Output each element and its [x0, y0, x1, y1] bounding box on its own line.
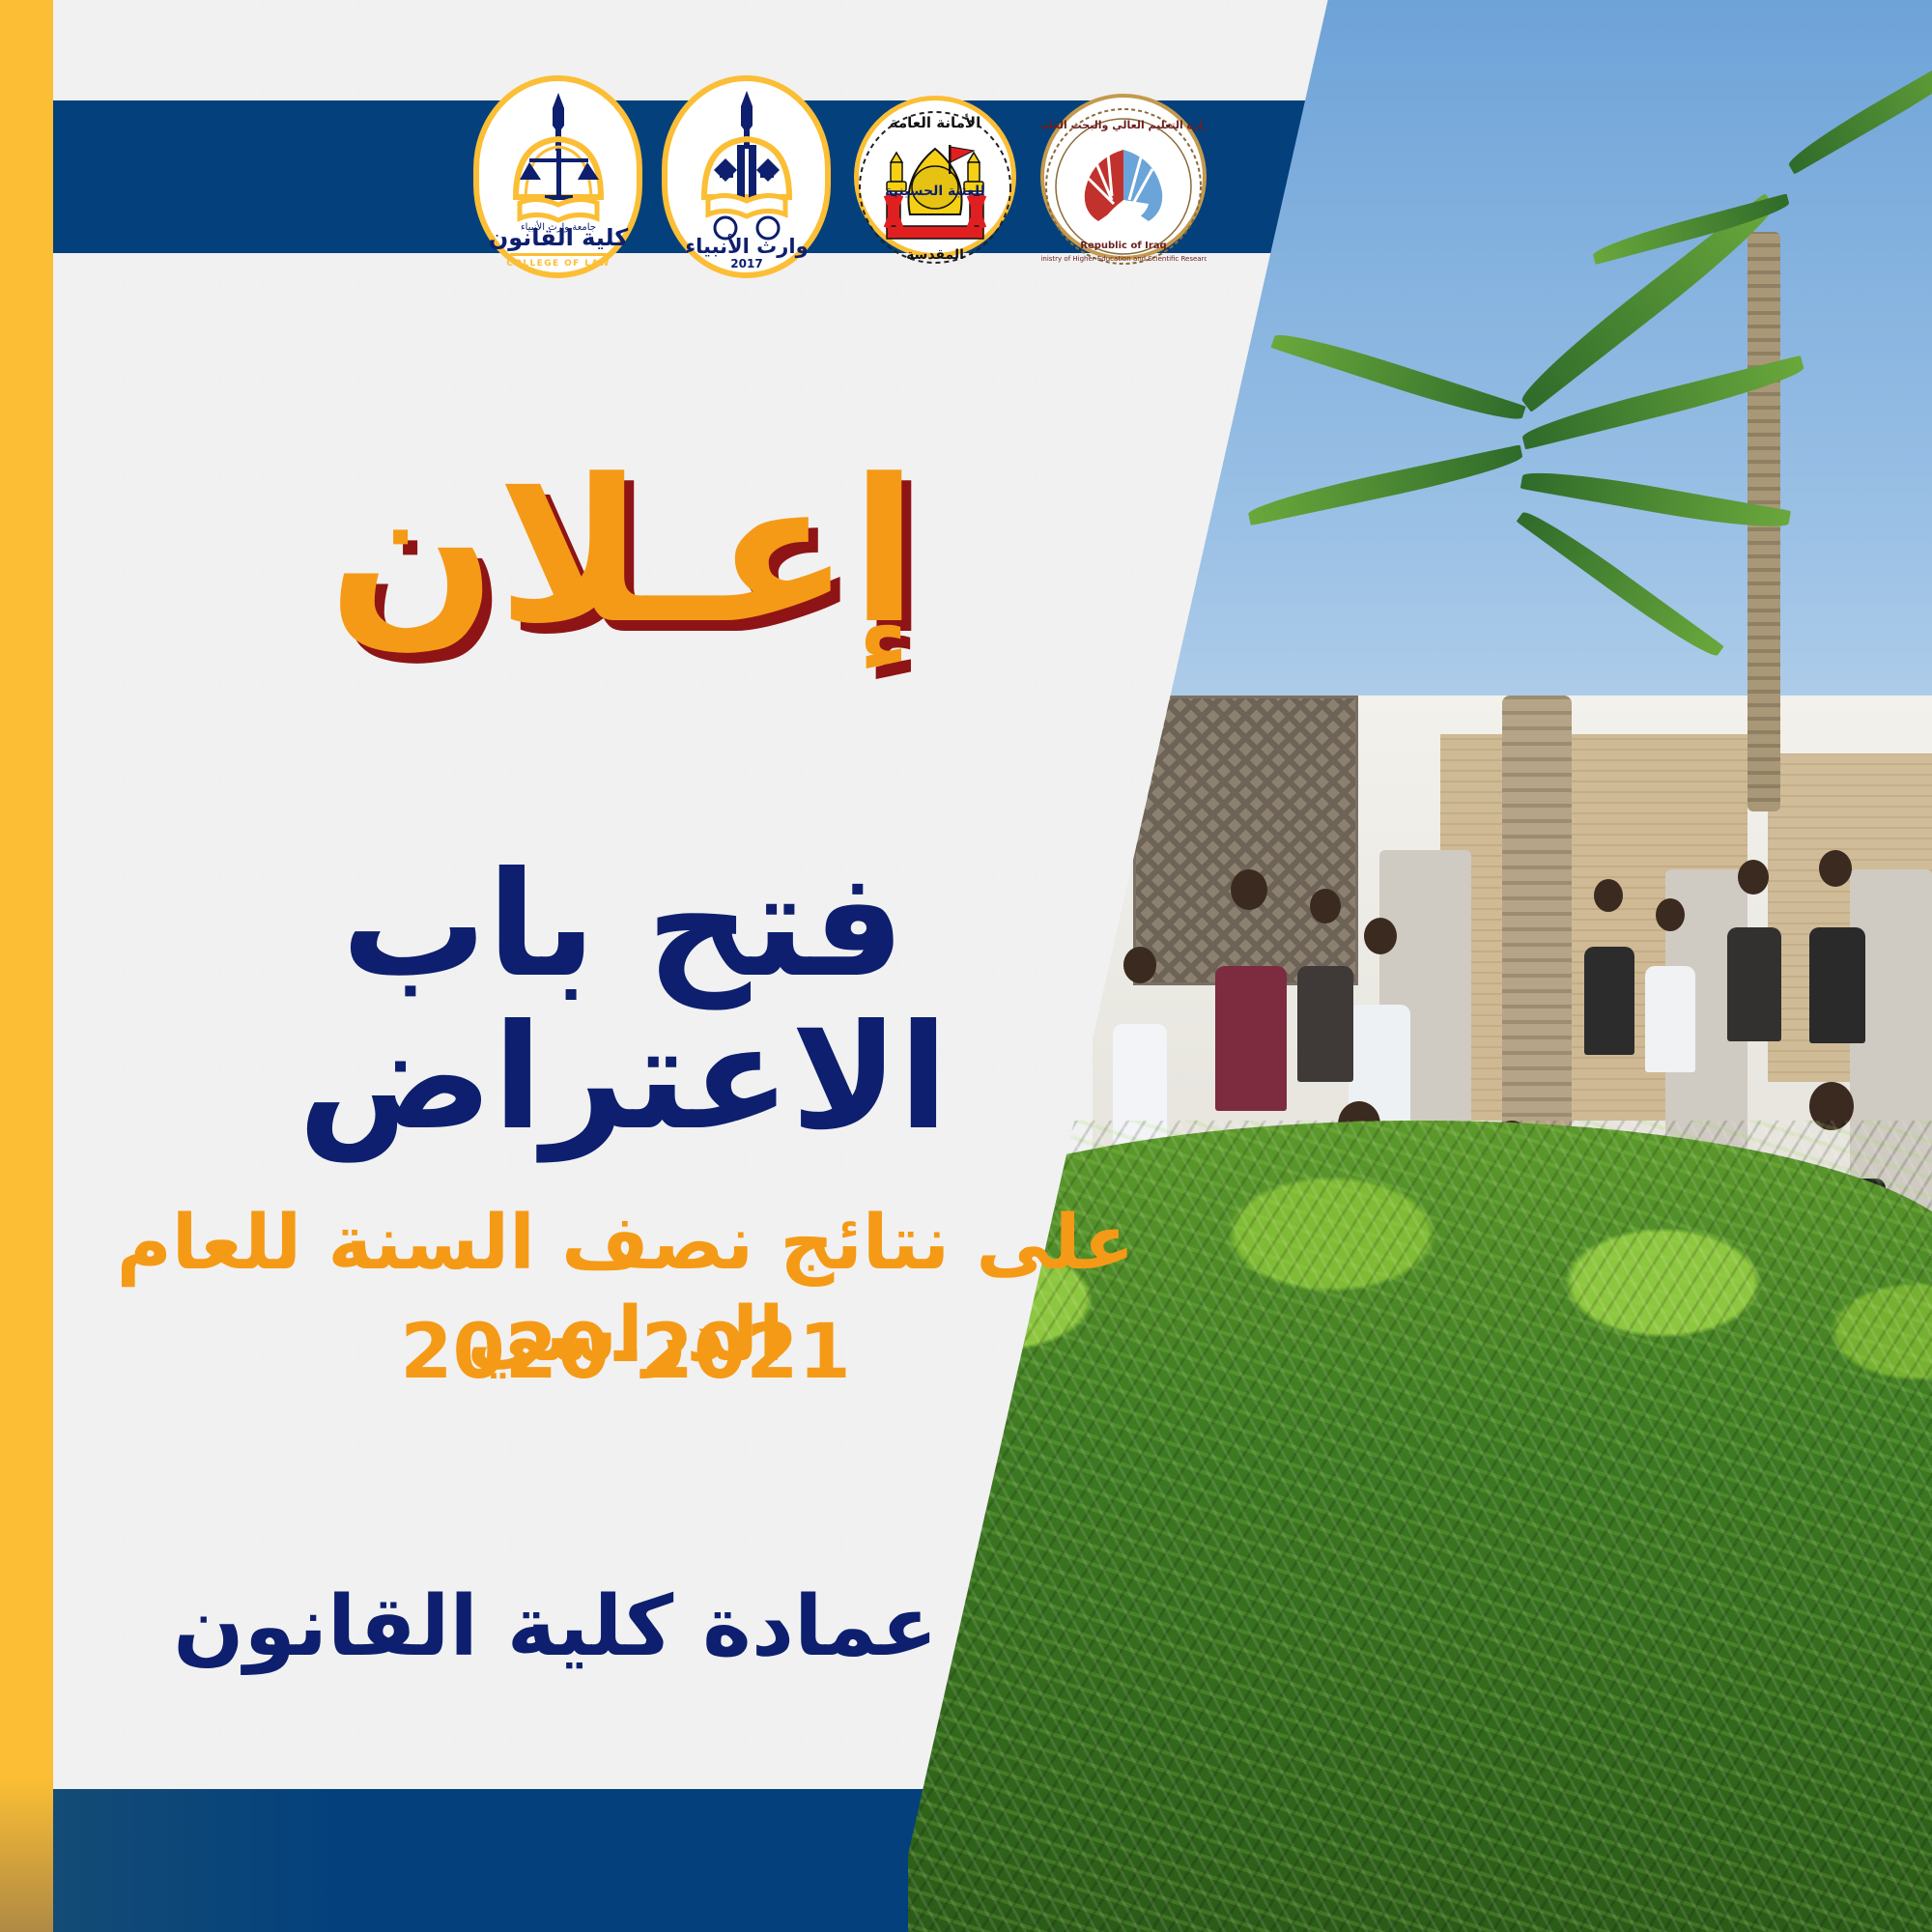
logo4-english-ring: Ministry of Higher Education and Scienti… — [1040, 255, 1207, 263]
photo-person — [1645, 966, 1695, 1072]
logo3-arabic-top: الأمانة العامة — [889, 114, 980, 131]
golden-dome-with-minarets-icon: الأمانة العامة للعتبة الحسينية المقدسة — [854, 106, 1016, 269]
logo-row: كلية القانون COLLEGE OF LAW جامعة وارث ا… — [473, 75, 1207, 278]
announcement-poster: كلية القانون COLLEGE OF LAW جامعة وارث ا… — [0, 0, 1932, 1932]
photo-person-head — [1594, 879, 1623, 912]
scales-of-justice-icon: كلية القانون COLLEGE OF LAW جامعة وارث ا… — [481, 83, 636, 271]
photo-person — [1215, 966, 1287, 1111]
logo2-arabic-name: وارث الأنبياء — [685, 233, 808, 258]
logo4-arabic-top: وزارة التعليم العالي والبحث العلمي — [1040, 119, 1207, 131]
subtitle-heading: فتح باب الاعتراض — [53, 850, 1193, 1154]
logo3-arabic-center: للعتبة الحسينية — [885, 184, 985, 199]
page-title: إعـلان — [53, 454, 1193, 652]
university-warith-al-anbiya-logo: وارث الأنبياء 2017 — [662, 75, 831, 278]
photo-person-head — [1310, 889, 1341, 923]
ministry-of-higher-education-logo: وزارة التعليم العالي والبحث العلمي Repub… — [1038, 75, 1207, 278]
college-of-law-logo: كلية القانون COLLEGE OF LAW جامعة وارث ا… — [473, 75, 642, 278]
photo-person — [1727, 927, 1781, 1041]
academic-year: 2020-2021 — [53, 1312, 1198, 1395]
photo-person — [1584, 947, 1634, 1055]
photo-person-head — [1656, 898, 1685, 931]
logo1-english-sub: COLLEGE OF LAW — [506, 259, 610, 269]
logo2-year: 2017 — [730, 257, 762, 270]
photo-person-head — [1231, 869, 1267, 910]
logo3-arabic-bottom: المقدسة — [906, 247, 964, 263]
signature-line: عمادة كلية القانون — [53, 1579, 1058, 1675]
logo1-arabic-sub: جامعة وارث الأنبياء — [520, 220, 595, 233]
left-gold-rail — [0, 0, 53, 1932]
imam-hussein-holy-shrine-logo: الأمانة العامة للعتبة الحسينية المقدسة — [850, 75, 1019, 278]
photo-person-head — [1364, 918, 1397, 954]
photo-person — [1809, 927, 1865, 1043]
minaret-and-open-book-icon: وارث الأنبياء 2017 — [669, 83, 824, 271]
red-blue-flame-hand-icon: وزارة التعليم العالي والبحث العلمي Repub… — [1040, 103, 1207, 270]
photo-person-head — [1738, 860, 1769, 895]
logo4-english-sub: Republic of Iraq — [1080, 241, 1166, 251]
photo-person — [1297, 966, 1353, 1082]
